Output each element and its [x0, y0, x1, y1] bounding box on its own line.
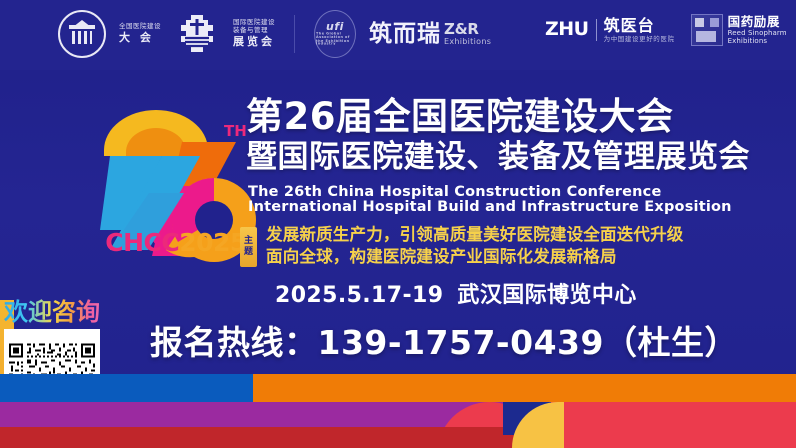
- page-title-cn-secondary: 暨国际医院建设、装备及管理展览会: [246, 142, 750, 173]
- zr-exhibitions-logo: 筑而瑞 Z&R Exhibitions: [369, 22, 491, 46]
- snowflake-cross-emblem-icon: [174, 11, 220, 57]
- chcc-acronym: CHCC2025: [96, 230, 256, 255]
- page-title-cn-primary: 第26届全国医院建设大会: [246, 98, 674, 135]
- chcc-acronym-year: 2025: [179, 228, 247, 257]
- theme-badge-char2: 题: [244, 247, 253, 258]
- zr-logo-en-sub: Exhibitions: [444, 38, 491, 46]
- sinopharm-badge-icon: [691, 14, 723, 46]
- ufi-sub: The Global Association of the Exhibition…: [316, 33, 354, 47]
- sponsor-logo-bar: 全国医院建设 大 会 国际医院建设 装备与管理 展览会 ufi The Gl: [0, 0, 796, 70]
- zr-logo-en-main: Z&R: [444, 22, 491, 38]
- zhu-wordmark: ZHU: [545, 20, 589, 39]
- event-date: 2025.5.17-19: [275, 283, 443, 308]
- theme-line1: 发展新质生产力，引领高质量美好医院建设全面迭代升级: [266, 226, 684, 245]
- conference-emblem-line2: 大 会: [119, 32, 161, 45]
- right-logo-group: ZHU 筑医台 为中国建设更好的医院 国药励展 Reed Sinopharm E…: [545, 14, 787, 46]
- sinopharm-text-block: 国药励展 Reed Sinopharm Exhibitions: [728, 15, 787, 45]
- registration-hotline: 报名热线：139-1757-0439（杜生）: [150, 326, 738, 359]
- zhu-divider: [596, 19, 597, 41]
- band-purple-block: [0, 402, 520, 427]
- band-orange-block: [253, 374, 796, 402]
- sinopharm-en1: Reed Sinopharm: [728, 29, 787, 37]
- svg-text:TH: TH: [224, 122, 247, 140]
- conference-emblem-label: 全国医院建设 大 会: [119, 23, 161, 45]
- sinopharm-cn: 国药励展: [728, 15, 787, 29]
- zhu-logo-cn: 筑医台: [604, 16, 675, 35]
- sinopharm-en2: Exhibitions: [728, 37, 787, 45]
- logo-divider: [294, 15, 295, 53]
- zhuyitai-logo: ZHU 筑医台 为中国建设更好的医院: [545, 16, 675, 44]
- poster-canvas: 全国医院建设 大 会 国际医院建设 装备与管理 展览会 ufi The Gl: [0, 0, 796, 448]
- band-red-overlay-block: [564, 402, 796, 448]
- zr-logo-en: Z&R Exhibitions: [444, 22, 491, 46]
- conference-emblem-line1: 全国医院建设: [119, 23, 161, 30]
- chcc-acronym-letters: CHCC: [105, 228, 179, 257]
- zhu-text-block: 筑医台 为中国建设更好的医院: [604, 16, 675, 44]
- zhu-logo-slogan: 为中国建设更好的医院: [604, 36, 675, 44]
- expo-emblem-label: 国际医院建设 装备与管理 展览会: [233, 19, 275, 49]
- band-blue-block: [0, 374, 253, 402]
- hospital-building-emblem-icon: [58, 10, 106, 58]
- ufi-seal-icon: ufi The Global Association of the Exhibi…: [314, 10, 356, 58]
- sinopharm-logo: 国药励展 Reed Sinopharm Exhibitions: [691, 14, 787, 46]
- event-dateline: 2025.5.17-19武汉国际博览中心: [275, 285, 637, 307]
- left-logo-group: 全国医院建设 大 会 国际医院建设 装备与管理 展览会 ufi The Gl: [58, 10, 491, 58]
- event-venue: 武汉国际博览中心: [457, 283, 636, 308]
- page-title-en-secondary: International Hospital Build and Infrast…: [248, 199, 732, 216]
- qr-welcome-text: 欢迎咨询: [4, 296, 104, 328]
- bottom-color-band: [0, 374, 796, 448]
- expo-emblem-line3: 展览会: [233, 36, 275, 49]
- zr-logo-cn: 筑而瑞: [369, 23, 441, 46]
- theme-badge-char1: 主: [244, 236, 253, 247]
- expo-emblem-line2: 装备与管理: [233, 27, 275, 34]
- theme-badge: 主 题: [240, 227, 257, 267]
- theme-line2: 面向全球，构建医院建设产业国际化发展新格局: [266, 248, 617, 267]
